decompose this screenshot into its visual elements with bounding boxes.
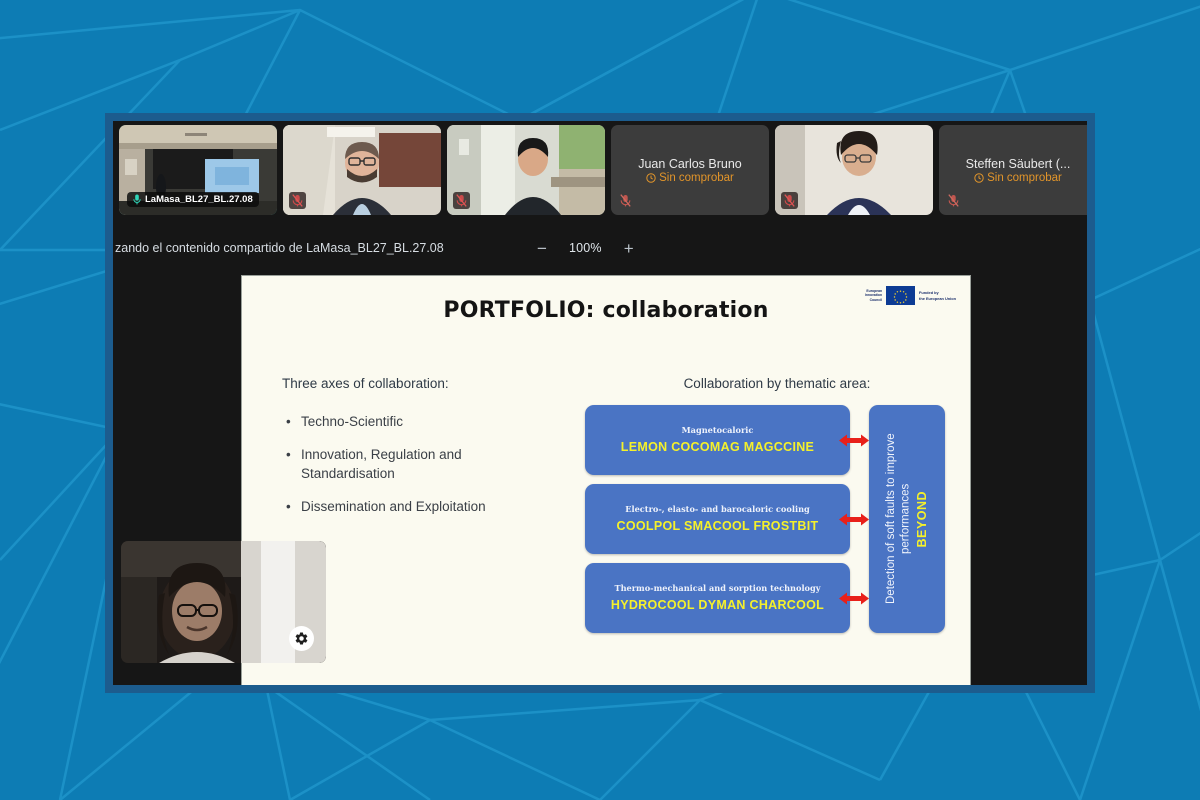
thematic-heading: Collaboration by thematic area: [612, 376, 942, 391]
funded-by-text: Funded by the European Union [919, 290, 956, 301]
participant-tile-2[interactable] [447, 125, 605, 215]
unverified-clock-icon [646, 173, 656, 183]
double-arrow-icon-0 [838, 433, 870, 448]
self-view-thumbnail[interactable] [121, 541, 326, 663]
slide-title: PORTFOLIO: collaboration [242, 298, 970, 323]
participant-tile-1[interactable] [283, 125, 441, 215]
participant-video-1 [283, 125, 441, 215]
zoom-out-button[interactable]: − [537, 240, 547, 257]
mic-off-icon [620, 194, 631, 207]
eic-logo-text: European Innovation Council [865, 289, 882, 303]
shared-slide-frame[interactable]: PORTFOLIO: collaboration European Innova… [241, 275, 971, 685]
gear-icon [294, 631, 309, 646]
zoom-in-button[interactable]: + [624, 240, 634, 257]
participant-name-chip-0: LaMasa_BL27_BL.27.08 [127, 192, 259, 207]
screen-share-bar: zando el contenido compartido de LaMasa_… [113, 233, 1087, 263]
thematic-category-1: Electro-, elasto- and barocaloric coolin… [625, 505, 810, 515]
axes-bullet-0: Techno-Scientific [284, 412, 554, 432]
thematic-projects-1: COOLPOL SMACOOL FROSTBIT [617, 519, 819, 533]
mic-off-indicator-1 [289, 192, 306, 209]
participant-status-3: Sin comprobar [646, 172, 734, 184]
axes-bullet-1: Innovation, Regulation and Standardisati… [284, 445, 554, 484]
funded-line-2: the European Union [919, 296, 956, 301]
axes-bullet-list: Techno-Scientific Innovation, Regulation… [284, 412, 554, 529]
zoom-level-label: 100% [569, 241, 602, 255]
mic-off-indicator-3 [617, 192, 634, 209]
participant-tile-3[interactable]: Juan Carlos Bruno Sin comprobar [611, 125, 769, 215]
thematic-box-0: Magnetocaloric LEMON COCOMAG MAGCCINE [585, 405, 850, 475]
mic-on-icon [133, 194, 141, 205]
eu-funding-logo: European Innovation Council [865, 286, 956, 305]
participant-name-5: Steffen Säubert (... [966, 157, 1071, 171]
mic-off-icon [292, 194, 303, 207]
double-arrow-icon-1 [838, 512, 870, 527]
screen-share-label: zando el contenido compartido de LaMasa_… [113, 241, 444, 255]
thematic-projects-2: HYDROCOOL DYMAN CHARCOOL [611, 598, 824, 612]
video-meeting-window: LaMasa_BL27_BL.27.08 [105, 113, 1095, 693]
mic-off-icon [948, 194, 959, 207]
thematic-category-0: Magnetocaloric [682, 426, 754, 436]
participant-name-3: Juan Carlos Bruno [638, 157, 742, 171]
unverified-clock-icon [974, 173, 984, 183]
beyond-project-box: Detection of soft faults to improve perf… [869, 405, 945, 633]
presentation-slide: PORTFOLIO: collaboration European Innova… [242, 276, 970, 685]
mic-off-icon [456, 194, 467, 207]
thematic-box-1: Electro-, elasto- and barocaloric coolin… [585, 484, 850, 554]
axes-heading: Three axes of collaboration: [282, 376, 449, 391]
thematic-category-2: Thermo-mechanical and sorption technolog… [614, 584, 820, 594]
thematic-box-2: Thermo-mechanical and sorption technolog… [585, 563, 850, 633]
participant-status-label-5: Sin comprobar [987, 172, 1062, 184]
mic-off-indicator-4 [781, 192, 798, 209]
participant-tile-4[interactable] [775, 125, 933, 215]
eu-flag-icon [886, 286, 915, 305]
mic-off-icon [784, 194, 795, 207]
beyond-description: Detection of soft faults to improve perf… [884, 414, 913, 624]
desktop-background: LaMasa_BL27_BL.27.08 [0, 0, 1200, 800]
zoom-controls: − 100% + [537, 240, 634, 257]
participant-tile-5[interactable]: Steffen Säubert (... Sin comprobar [939, 125, 1087, 215]
double-arrow-icon-2 [838, 591, 870, 606]
eic-line-3: Council [865, 298, 882, 303]
participant-video-2 [447, 125, 605, 215]
participant-filmstrip: LaMasa_BL27_BL.27.08 [113, 125, 1087, 223]
participant-status-5: Sin comprobar [974, 172, 1062, 184]
participant-video-4 [775, 125, 933, 215]
participant-info-3: Juan Carlos Bruno Sin comprobar [611, 125, 769, 215]
meeting-content-area: LaMasa_BL27_BL.27.08 [113, 121, 1087, 685]
participant-status-label-3: Sin comprobar [659, 172, 734, 184]
mic-off-indicator-5 [945, 192, 962, 209]
axes-bullet-2: Dissemination and Exploitation [284, 497, 554, 517]
participant-tile-0[interactable]: LaMasa_BL27_BL.27.08 [119, 125, 277, 215]
beyond-project-name: BEYOND [915, 491, 931, 547]
mic-off-indicator-2 [453, 192, 470, 209]
participant-name-0: LaMasa_BL27_BL.27.08 [145, 194, 253, 205]
self-view-settings-button[interactable] [289, 626, 314, 651]
eu-stars [886, 286, 915, 305]
thematic-projects-0: LEMON COCOMAG MAGCCINE [621, 440, 814, 454]
